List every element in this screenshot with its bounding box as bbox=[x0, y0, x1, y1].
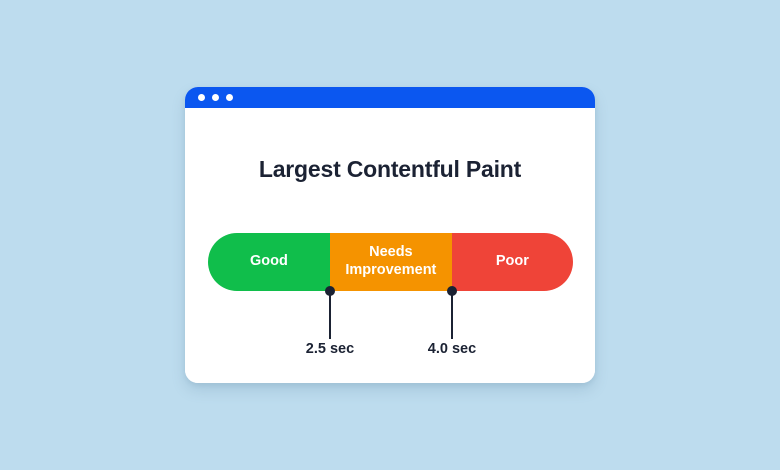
page-title: Largest Contentful Paint bbox=[185, 156, 595, 183]
page-canvas: Largest Contentful Paint Good NeedsImpro… bbox=[0, 0, 780, 470]
marker-1-label: 2.5 sec bbox=[280, 341, 380, 357]
window-close-dot-icon[interactable] bbox=[198, 94, 205, 101]
segment-good-label: Good bbox=[250, 253, 288, 271]
lcp-threshold-bar: Good NeedsImprovement Poor bbox=[208, 233, 573, 291]
segment-needs-improvement: NeedsImprovement bbox=[330, 233, 452, 291]
marker-2-label: 4.0 sec bbox=[402, 341, 502, 357]
marker-line bbox=[451, 291, 453, 339]
segment-poor: Poor bbox=[452, 233, 573, 291]
marker-line bbox=[329, 291, 331, 339]
window-maximize-dot-icon[interactable] bbox=[226, 94, 233, 101]
segment-needs-improvement-label: NeedsImprovement bbox=[345, 244, 436, 279]
segment-ni-label-line2: Improvement bbox=[345, 262, 436, 278]
segment-good: Good bbox=[208, 233, 330, 291]
segment-ni-label-line1: Needs bbox=[369, 244, 413, 260]
browser-title-bar bbox=[185, 87, 595, 108]
window-minimize-dot-icon[interactable] bbox=[212, 94, 219, 101]
browser-window-card: Largest Contentful Paint Good NeedsImpro… bbox=[185, 87, 595, 383]
browser-content-area: Largest Contentful Paint Good NeedsImpro… bbox=[185, 108, 595, 383]
segment-poor-label: Poor bbox=[496, 253, 529, 271]
